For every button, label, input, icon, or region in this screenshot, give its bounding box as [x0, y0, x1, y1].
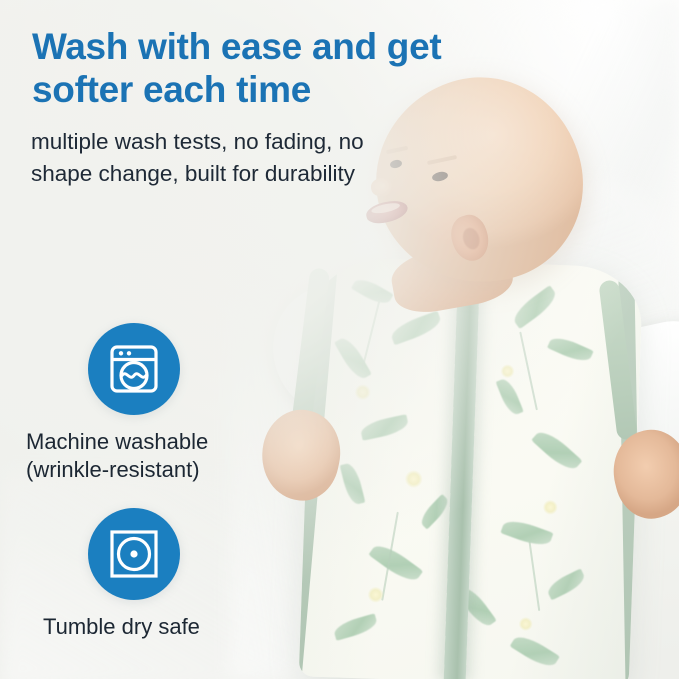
feature-tumble-dry: Tumble dry safe	[88, 508, 200, 641]
feature-label: Tumble dry safe	[43, 613, 200, 641]
feature-machine-washable: Machine washable (wrinkle-resistant)	[88, 323, 208, 484]
subtext: multiple wash tests, no fading, no shape…	[31, 126, 391, 190]
tumble-dry-icon	[107, 527, 161, 581]
feature-icon-badge	[88, 508, 180, 600]
feature-icon-badge	[88, 323, 180, 415]
feature-label: Machine washable (wrinkle-resistant)	[26, 428, 208, 484]
washing-machine-icon	[107, 342, 161, 396]
sleep-sack	[299, 256, 643, 679]
headline: Wash with ease and get softer each time	[32, 26, 502, 112]
promo-image: Wash with ease and get softer each time …	[0, 0, 679, 679]
